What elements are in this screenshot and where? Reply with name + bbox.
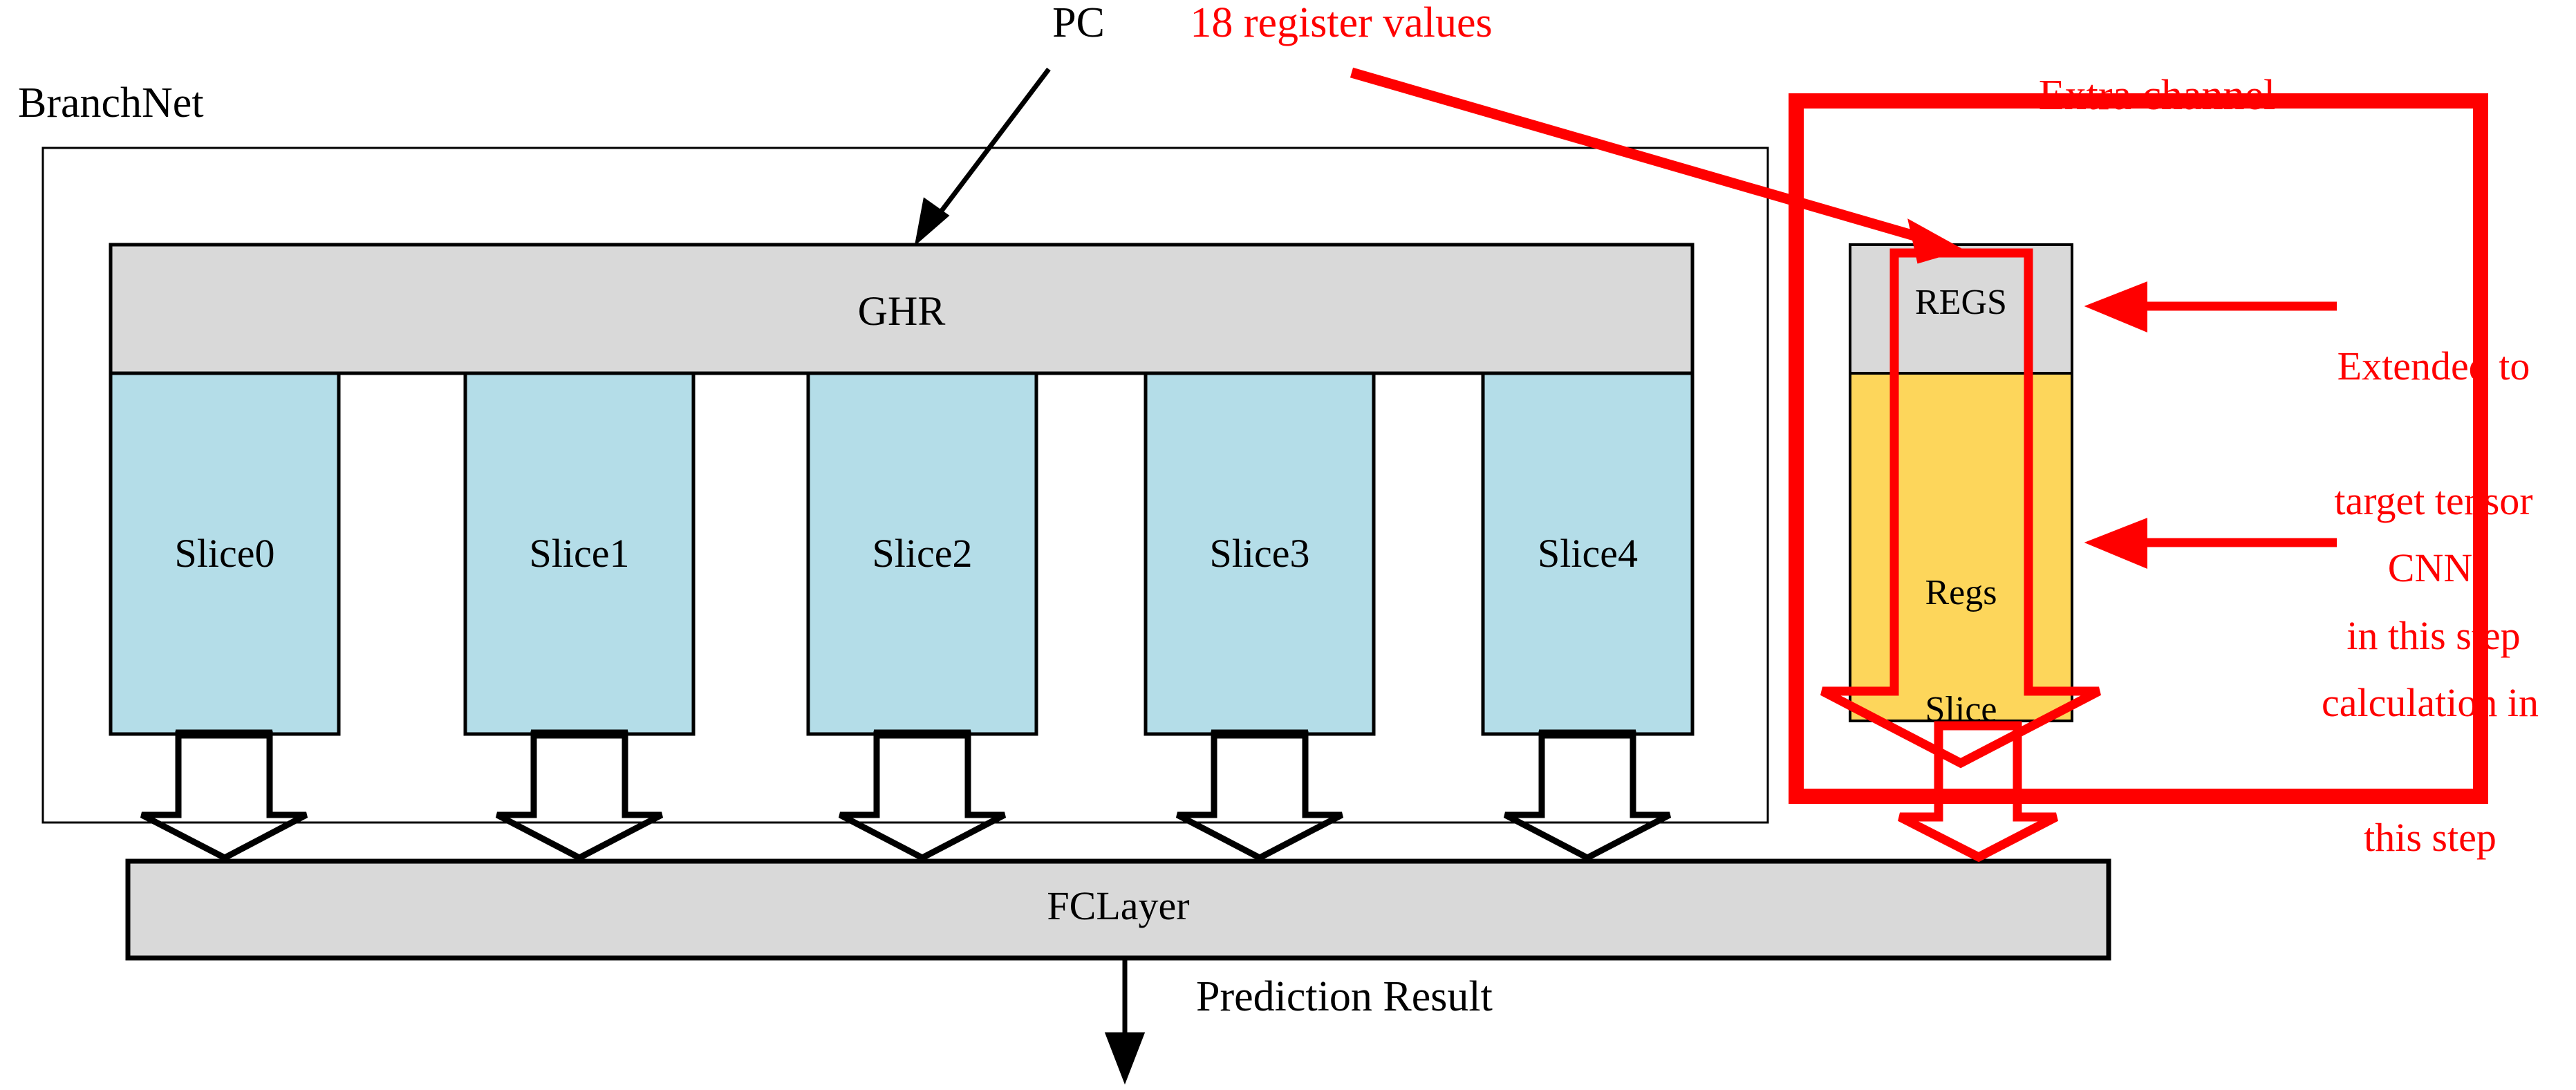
slice-label-3: Slice3 (1146, 532, 1374, 576)
regs-slice-label-line1: Regs (1850, 574, 2072, 612)
slice-label-4: Slice4 (1483, 532, 1692, 576)
slice-output-arrow-2 (840, 734, 1005, 858)
ghr-label: GHR (111, 289, 1692, 334)
slice-output-arrow-0 (142, 734, 306, 858)
regs-label: REGS (1850, 283, 2072, 322)
prediction-result-arrow (1106, 958, 1144, 1082)
extra-channel-annotation: Extra channel (1929, 73, 2385, 119)
pc-label: PC (1009, 0, 1148, 46)
slice-label-0: Slice0 (111, 532, 339, 576)
slice-output-arrow-1 (497, 734, 662, 858)
regs-slice-label: Regs Slice (1850, 496, 2072, 807)
regs-slice-label-line2: Slice (1850, 690, 2072, 729)
extended-to-target-line-1: Extended to (2288, 344, 2576, 389)
slice-output-arrows (142, 734, 1670, 858)
cnn-calculation-line-1: CNN (2281, 546, 2576, 591)
cnn-calculation-line-3: this step (2281, 816, 2576, 861)
cnn-calculation-annotation: CNN calculation in this step (2281, 456, 2576, 950)
slice-label-2: Slice2 (808, 532, 1036, 576)
slice-output-arrow-3 (1177, 734, 1342, 858)
fclayer-label: FCLayer (128, 885, 2109, 928)
prediction-result-label: Prediction Result (1196, 974, 1493, 1020)
slice-output-arrow-4 (1505, 734, 1670, 858)
page-title: BranchNet (18, 80, 204, 126)
diagram-canvas: BranchNet PC 18 register values GHR Slic… (0, 0, 2576, 1090)
register-values-annotation: 18 register values (1134, 0, 1549, 46)
cnn-calculation-line-2: calculation in (2281, 681, 2576, 726)
pc-pointer-arrow (916, 69, 1049, 243)
slice-label-1: Slice1 (465, 532, 693, 576)
